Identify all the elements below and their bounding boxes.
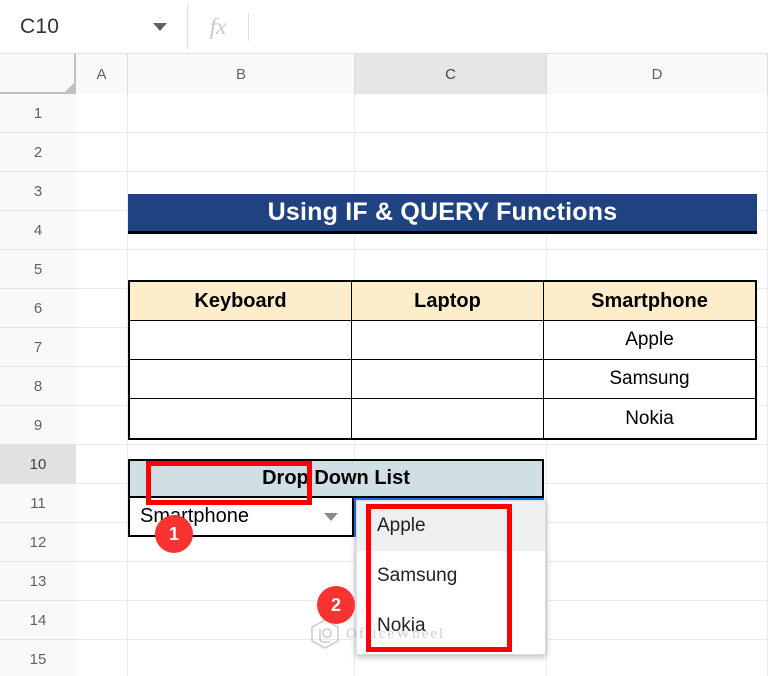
autocomplete-dropdown[interactable]: Apple Samsung Nokia xyxy=(356,500,546,655)
suggestion-item-samsung[interactable]: Samsung xyxy=(357,551,545,601)
formula-input[interactable] xyxy=(249,5,768,49)
cell-smartphone[interactable]: Apple xyxy=(544,321,755,360)
row-header-11[interactable]: 11 xyxy=(0,484,76,523)
column-header-b[interactable]: B xyxy=(128,54,355,94)
table-row[interactable]: Samsung xyxy=(130,360,755,399)
suggestion-item-nokia[interactable]: Nokia xyxy=(357,601,545,651)
sheet-title-banner: Using IF & QUERY Functions xyxy=(128,194,757,234)
cell-laptop[interactable] xyxy=(352,399,544,438)
table-row[interactable]: Nokia xyxy=(130,399,755,438)
name-box-value: C10 xyxy=(20,15,59,39)
cell-laptop[interactable] xyxy=(352,321,544,360)
row-header-5[interactable]: 5 xyxy=(0,250,76,289)
cell-keyboard[interactable] xyxy=(130,399,352,438)
chevron-down-icon[interactable] xyxy=(153,23,167,31)
dropdown-list-title-label: Drop Down List xyxy=(262,467,410,490)
table-header-keyboard: Keyboard xyxy=(130,282,352,321)
annotation-marker-1-label: 1 xyxy=(169,524,179,545)
cell-laptop[interactable] xyxy=(352,360,544,399)
formula-bar: C10 fx xyxy=(0,0,768,54)
column-header-c[interactable]: C xyxy=(355,54,547,94)
row-header-12[interactable]: 12 xyxy=(0,523,76,562)
dropdown-list-title: Drop Down List xyxy=(128,459,544,498)
row-header-9[interactable]: 9 xyxy=(0,406,76,445)
table-row[interactable]: Apple xyxy=(130,321,755,360)
data-table: Keyboard Laptop Smartphone Apple Samsung… xyxy=(128,280,757,440)
row-header-strip: 1 2 3 4 5 6 7 8 9 10 11 12 13 14 15 xyxy=(0,94,76,676)
annotation-marker-2-label: 2 xyxy=(331,595,341,616)
column-header-strip: A B C D xyxy=(76,54,768,94)
cell-keyboard[interactable] xyxy=(130,321,352,360)
column-header-a[interactable]: A xyxy=(76,54,128,94)
select-all-corner[interactable] xyxy=(0,54,76,94)
annotation-marker-1: 1 xyxy=(155,515,193,553)
column-header-d[interactable]: D xyxy=(547,54,768,94)
row-header-2[interactable]: 2 xyxy=(0,133,76,172)
fx-icon: fx xyxy=(188,14,248,40)
row-header-10[interactable]: 10 xyxy=(0,445,76,484)
row-header-7[interactable]: 7 xyxy=(0,328,76,367)
cell-smartphone[interactable]: Nokia xyxy=(544,399,755,438)
table-header-smartphone: Smartphone xyxy=(544,282,755,321)
sheet-grid: A B C D 1 2 3 4 5 6 7 8 9 10 11 12 13 14… xyxy=(0,54,768,676)
cell-keyboard[interactable] xyxy=(130,360,352,399)
row-header-8[interactable]: 8 xyxy=(0,367,76,406)
name-box[interactable]: C10 xyxy=(2,5,188,49)
row-header-15[interactable]: 15 xyxy=(0,640,76,676)
row-header-1[interactable]: 1 xyxy=(0,94,76,133)
row-header-14[interactable]: 14 xyxy=(0,601,76,640)
row-header-4[interactable]: 4 xyxy=(0,211,76,250)
table-header-row: Keyboard Laptop Smartphone xyxy=(130,282,755,321)
cell-smartphone[interactable]: Samsung xyxy=(544,360,755,399)
row-header-3[interactable]: 3 xyxy=(0,172,76,211)
page-title: Using IF & QUERY Functions xyxy=(268,198,618,227)
table-header-laptop: Laptop xyxy=(352,282,544,321)
row-header-6[interactable]: 6 xyxy=(0,289,76,328)
suggestion-item-apple[interactable]: Apple xyxy=(357,501,545,551)
spreadsheet-app: C10 fx A B C D 1 2 3 4 5 6 7 8 9 10 11 1… xyxy=(0,0,768,676)
chevron-down-icon[interactable] xyxy=(324,513,338,521)
row-header-13[interactable]: 13 xyxy=(0,562,76,601)
annotation-marker-2: 2 xyxy=(317,586,355,624)
